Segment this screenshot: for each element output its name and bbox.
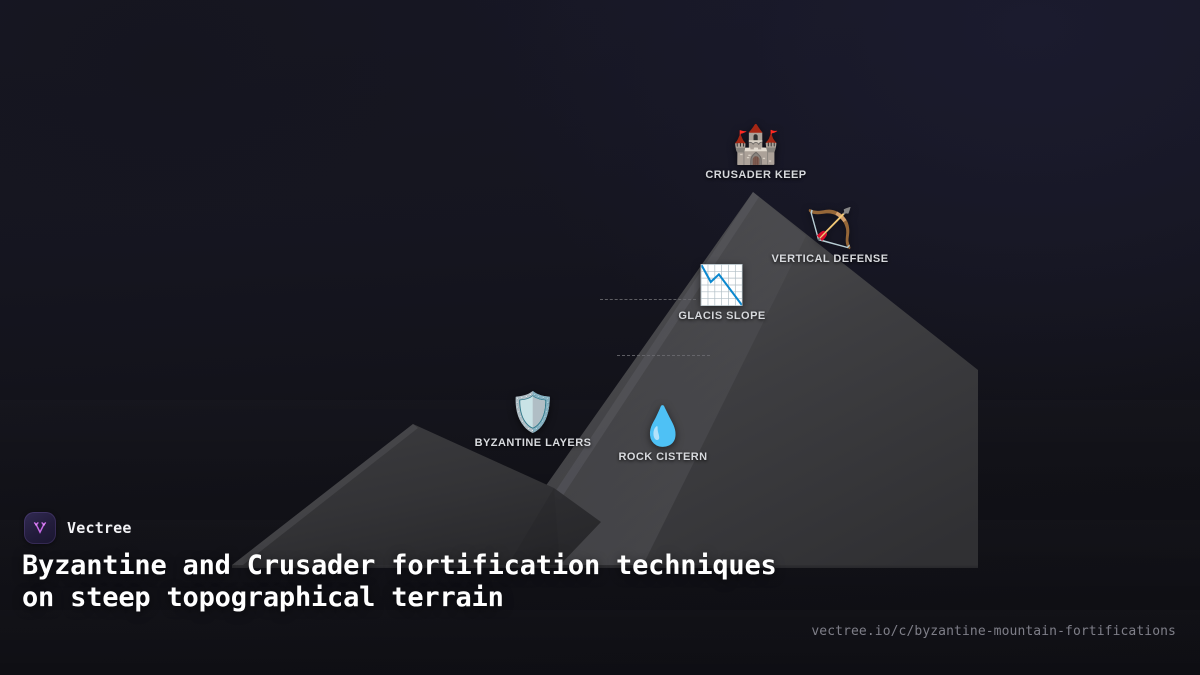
node-label: BYZANTINE LAYERS [475, 437, 592, 449]
node-label: GLACIS SLOPE [678, 310, 765, 322]
node-vertical-defense[interactable]: 🏹 VERTICAL DEFENSE [771, 208, 888, 265]
source-url: vectree.io/c/byzantine-mountain-fortific… [811, 624, 1176, 639]
infographic-canvas: 🏰 CRUSADER KEEP 🏹 VERTICAL DEFENSE 📉 GLA… [0, 0, 1200, 675]
node-label: VERTICAL DEFENSE [771, 253, 888, 265]
bow-and-arrow-icon: 🏹 [806, 208, 853, 250]
chart-decreasing-icon: 📉 [698, 265, 745, 307]
droplet-icon: 💧 [639, 406, 686, 448]
node-glacis-slope[interactable]: 📉 GLACIS SLOPE [678, 265, 765, 322]
node-label: ROCK CISTERN [618, 451, 707, 463]
page-title: Byzantine and Crusader fortification tec… [22, 550, 782, 614]
node-label: CRUSADER KEEP [705, 169, 806, 181]
brand-name: Vectree [67, 519, 132, 537]
node-byzantine-layers[interactable]: 🛡️ BYZANTINE LAYERS [475, 392, 592, 449]
brand[interactable]: Vectree [24, 512, 132, 544]
contour-lower [617, 355, 710, 356]
castle-icon: 🏰 [732, 124, 779, 166]
shield-icon: 🛡️ [509, 392, 556, 434]
node-rock-cistern[interactable]: 💧 ROCK CISTERN [618, 406, 707, 463]
node-crusader-keep[interactable]: 🏰 CRUSADER KEEP [705, 124, 806, 181]
vectree-branch-logo-icon [24, 512, 56, 544]
